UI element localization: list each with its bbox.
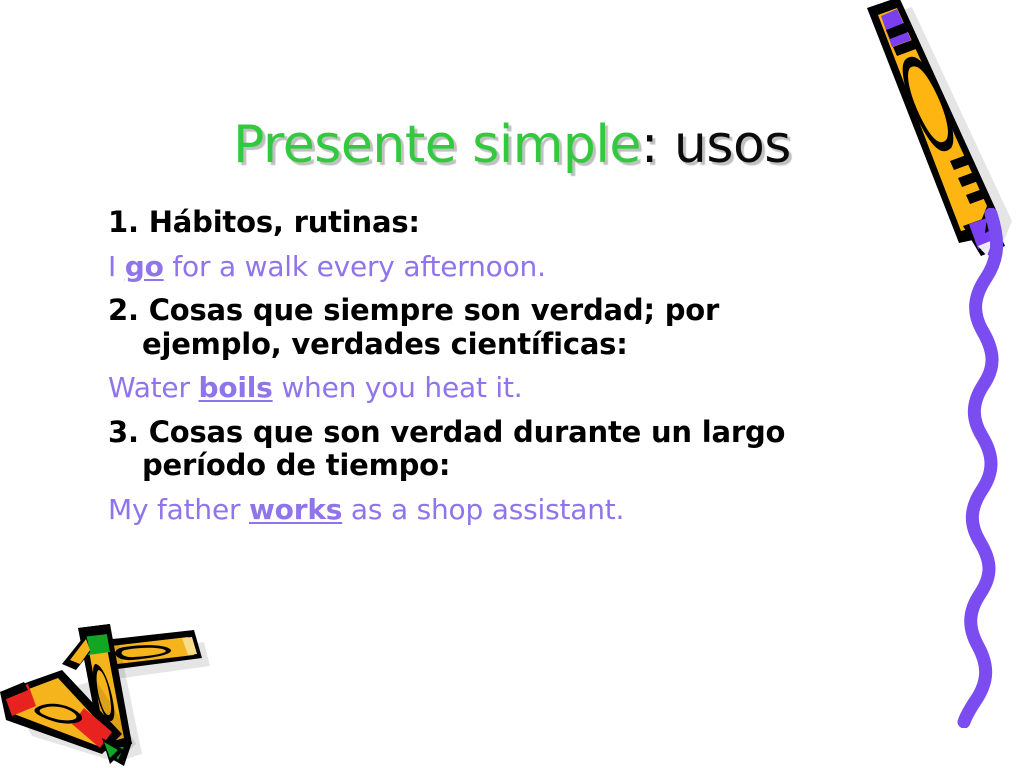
list-item-example-1: I go for a walk every afternoon. <box>108 251 908 283</box>
example-2-before: Water <box>108 371 198 404</box>
example-3-after: as a shop assistant. <box>342 493 624 526</box>
rule-3-line-2: período de tiempo: <box>108 449 908 483</box>
example-1-after: for a walk every afternoon. <box>164 250 546 283</box>
list-item-rule-3: 3. Cosas que son verdad durante un largo… <box>108 416 908 483</box>
rule-2-line-1: 2. Cosas que siempre son verdad; por <box>108 293 719 327</box>
example-2-after: when you heat it. <box>273 371 523 404</box>
rule-1-line-1: 1. Hábitos, rutinas: <box>108 205 420 239</box>
list-item-example-3: My father works as a shop assistant. <box>108 494 908 526</box>
slide-canvas: Presente simple: usos 1. Hábitos, rutina… <box>0 0 1024 768</box>
rule-2-line-2: ejemplo, verdades científicas: <box>108 328 908 362</box>
page-title: Presente simple: usos <box>0 118 1024 173</box>
title-black-part: : usos <box>641 115 791 175</box>
list-item-rule-1: 1. Hábitos, rutinas: <box>108 206 908 240</box>
rule-3-line-1: 3. Cosas que son verdad durante un largo <box>108 415 785 449</box>
content-list: 1. Hábitos, rutinas: I go for a walk eve… <box>108 206 908 538</box>
list-item-example-2: Water boils when you heat it. <box>108 372 908 404</box>
purple-wavy-line-icon <box>944 208 1024 728</box>
example-1-highlight: go <box>125 250 164 283</box>
example-3-highlight: works <box>249 493 342 526</box>
example-2-highlight: boils <box>198 371 272 404</box>
example-1-before: I <box>108 250 125 283</box>
list-item-rule-2: 2. Cosas que siempre son verdad; por eje… <box>108 294 908 361</box>
crayons-bottom-left-icon <box>0 608 238 768</box>
example-3-before: My father <box>108 493 249 526</box>
title-green-part: Presente simple <box>233 115 641 175</box>
